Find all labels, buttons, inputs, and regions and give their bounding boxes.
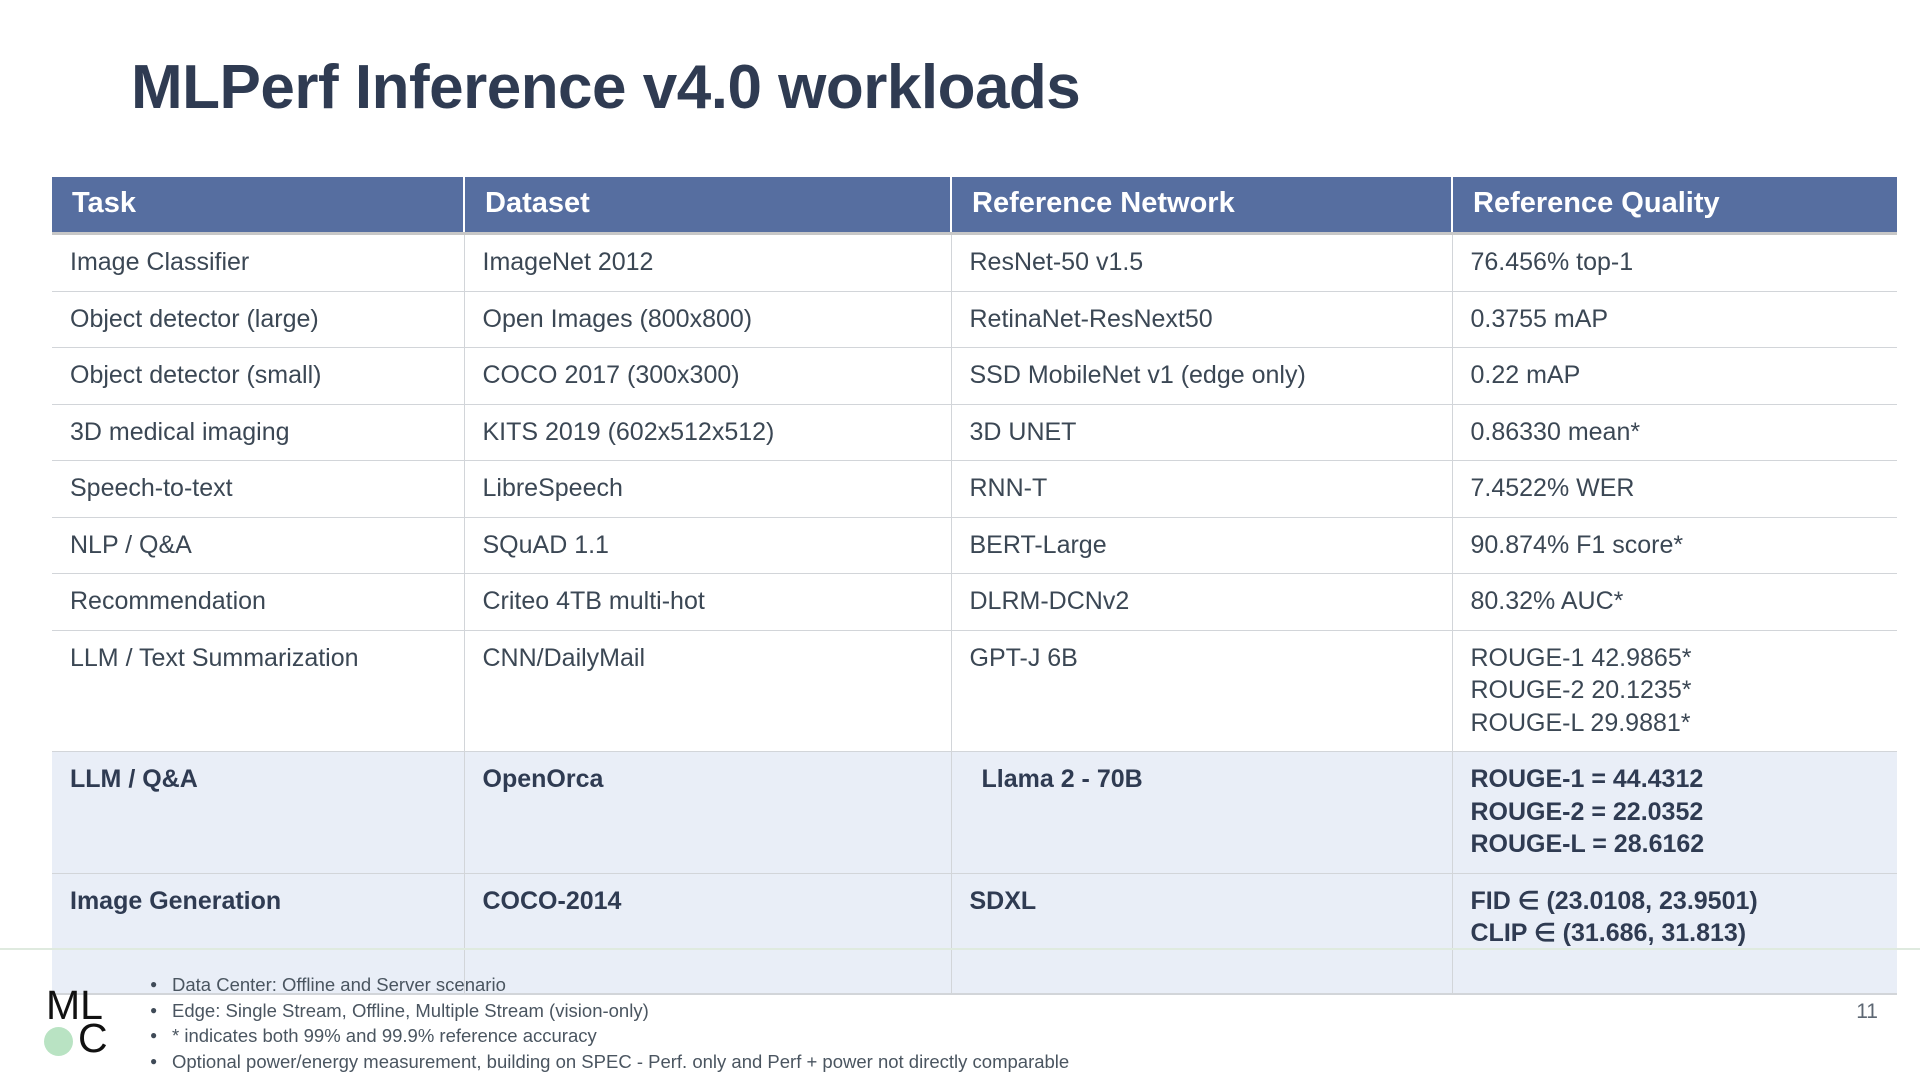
cell-reference-network: BERT-Large	[951, 517, 1452, 574]
cell-reference-network: GPT-J 6B	[951, 630, 1452, 752]
table-row: Speech-to-textLibreSpeechRNN-T7.4522% WE…	[52, 461, 1897, 518]
cell-reference-network: RetinaNet-ResNext50	[951, 291, 1452, 348]
column-header-reference-quality: Reference Quality	[1452, 177, 1897, 234]
cell-dataset: OpenOrca	[464, 752, 951, 874]
cell-reference-quality: 76.456% top-1	[1452, 234, 1897, 292]
cell-reference-network: Llama 2 - 70B	[951, 752, 1452, 874]
cell-task: LLM / Text Summarization	[52, 630, 464, 752]
footnote-item: Optional power/energy measurement, build…	[172, 1049, 1069, 1074]
table-row: Object detector (large)Open Images (800x…	[52, 291, 1897, 348]
table-row: LLM / Text SummarizationCNN/DailyMailGPT…	[52, 630, 1897, 752]
cell-dataset: SQuAD 1.1	[464, 517, 951, 574]
cell-reference-network: DLRM-DCNv2	[951, 574, 1452, 631]
column-header-dataset: Dataset	[464, 177, 951, 234]
table-row: 3D medical imagingKITS 2019 (602x512x512…	[52, 404, 1897, 461]
cell-reference-quality: 0.86330 mean*	[1452, 404, 1897, 461]
cell-reference-quality: FID ∈ (23.0108, 23.9501)CLIP ∈ (31.686, …	[1452, 873, 1897, 994]
cell-reference-quality: 80.32% AUC*	[1452, 574, 1897, 631]
cell-reference-quality: ROUGE-1 42.9865*ROUGE-2 20.1235*ROUGE-L …	[1452, 630, 1897, 752]
cell-reference-quality: 0.3755 mAP	[1452, 291, 1897, 348]
page-title: MLPerf Inference v4.0 workloads	[131, 52, 1080, 123]
logo-text-c: C	[78, 1018, 108, 1059]
cell-reference-quality: 0.22 mAP	[1452, 348, 1897, 405]
cell-task: Object detector (large)	[52, 291, 464, 348]
cell-task: Object detector (small)	[52, 348, 464, 405]
footnote-item: * indicates both 99% and 99.9% reference…	[172, 1023, 1069, 1049]
table-header-row: Task Dataset Reference Network Reference…	[52, 177, 1897, 234]
footnotes-list: Data Center: Offline and Server scenario…	[150, 972, 1069, 1074]
mlcommons-logo: ML C	[22, 985, 134, 1061]
cell-dataset: Open Images (800x800)	[464, 291, 951, 348]
workloads-table: Task Dataset Reference Network Reference…	[52, 177, 1897, 995]
page-number: 11	[1856, 1000, 1878, 1024]
cell-task: LLM / Q&A	[52, 752, 464, 874]
table-body: Image ClassifierImageNet 2012ResNet-50 v…	[52, 234, 1897, 994]
footer-divider	[0, 948, 1920, 950]
cell-dataset: LibreSpeech	[464, 461, 951, 518]
cell-reference-quality: ROUGE-1 = 44.4312ROUGE-2 = 22.0352ROUGE-…	[1452, 752, 1897, 874]
table-row: LLM / Q&AOpenOrcaLlama 2 - 70BROUGE-1 = …	[52, 752, 1897, 874]
table-row: RecommendationCriteo 4TB multi-hotDLRM-D…	[52, 574, 1897, 631]
table-row: NLP / Q&ASQuAD 1.1BERT-Large90.874% F1 s…	[52, 517, 1897, 574]
cell-reference-network: 3D UNET	[951, 404, 1452, 461]
column-header-reference-network: Reference Network	[951, 177, 1452, 234]
cell-reference-network: SSD MobileNet v1 (edge only)	[951, 348, 1452, 405]
cell-reference-quality: 90.874% F1 score*	[1452, 517, 1897, 574]
cell-dataset: KITS 2019 (602x512x512)	[464, 404, 951, 461]
cell-dataset: Criteo 4TB multi-hot	[464, 574, 951, 631]
footnote-item: Data Center: Offline and Server scenario	[172, 972, 1069, 998]
cell-reference-network: ResNet-50 v1.5	[951, 234, 1452, 292]
cell-task: 3D medical imaging	[52, 404, 464, 461]
table-row: Object detector (small)COCO 2017 (300x30…	[52, 348, 1897, 405]
logo-dot-icon	[44, 1027, 73, 1056]
cell-reference-network: RNN-T	[951, 461, 1452, 518]
column-header-task: Task	[52, 177, 464, 234]
table-header: Task Dataset Reference Network Reference…	[52, 177, 1897, 234]
cell-dataset: ImageNet 2012	[464, 234, 951, 292]
cell-task: Recommendation	[52, 574, 464, 631]
table-row: Image ClassifierImageNet 2012ResNet-50 v…	[52, 234, 1897, 292]
cell-task: Speech-to-text	[52, 461, 464, 518]
workloads-table-container: Task Dataset Reference Network Reference…	[52, 177, 1897, 995]
cell-task: Image Classifier	[52, 234, 464, 292]
cell-reference-quality: 7.4522% WER	[1452, 461, 1897, 518]
cell-task: NLP / Q&A	[52, 517, 464, 574]
cell-dataset: CNN/DailyMail	[464, 630, 951, 752]
footnote-item: Edge: Single Stream, Offline, Multiple S…	[172, 998, 1069, 1024]
cell-dataset: COCO 2017 (300x300)	[464, 348, 951, 405]
